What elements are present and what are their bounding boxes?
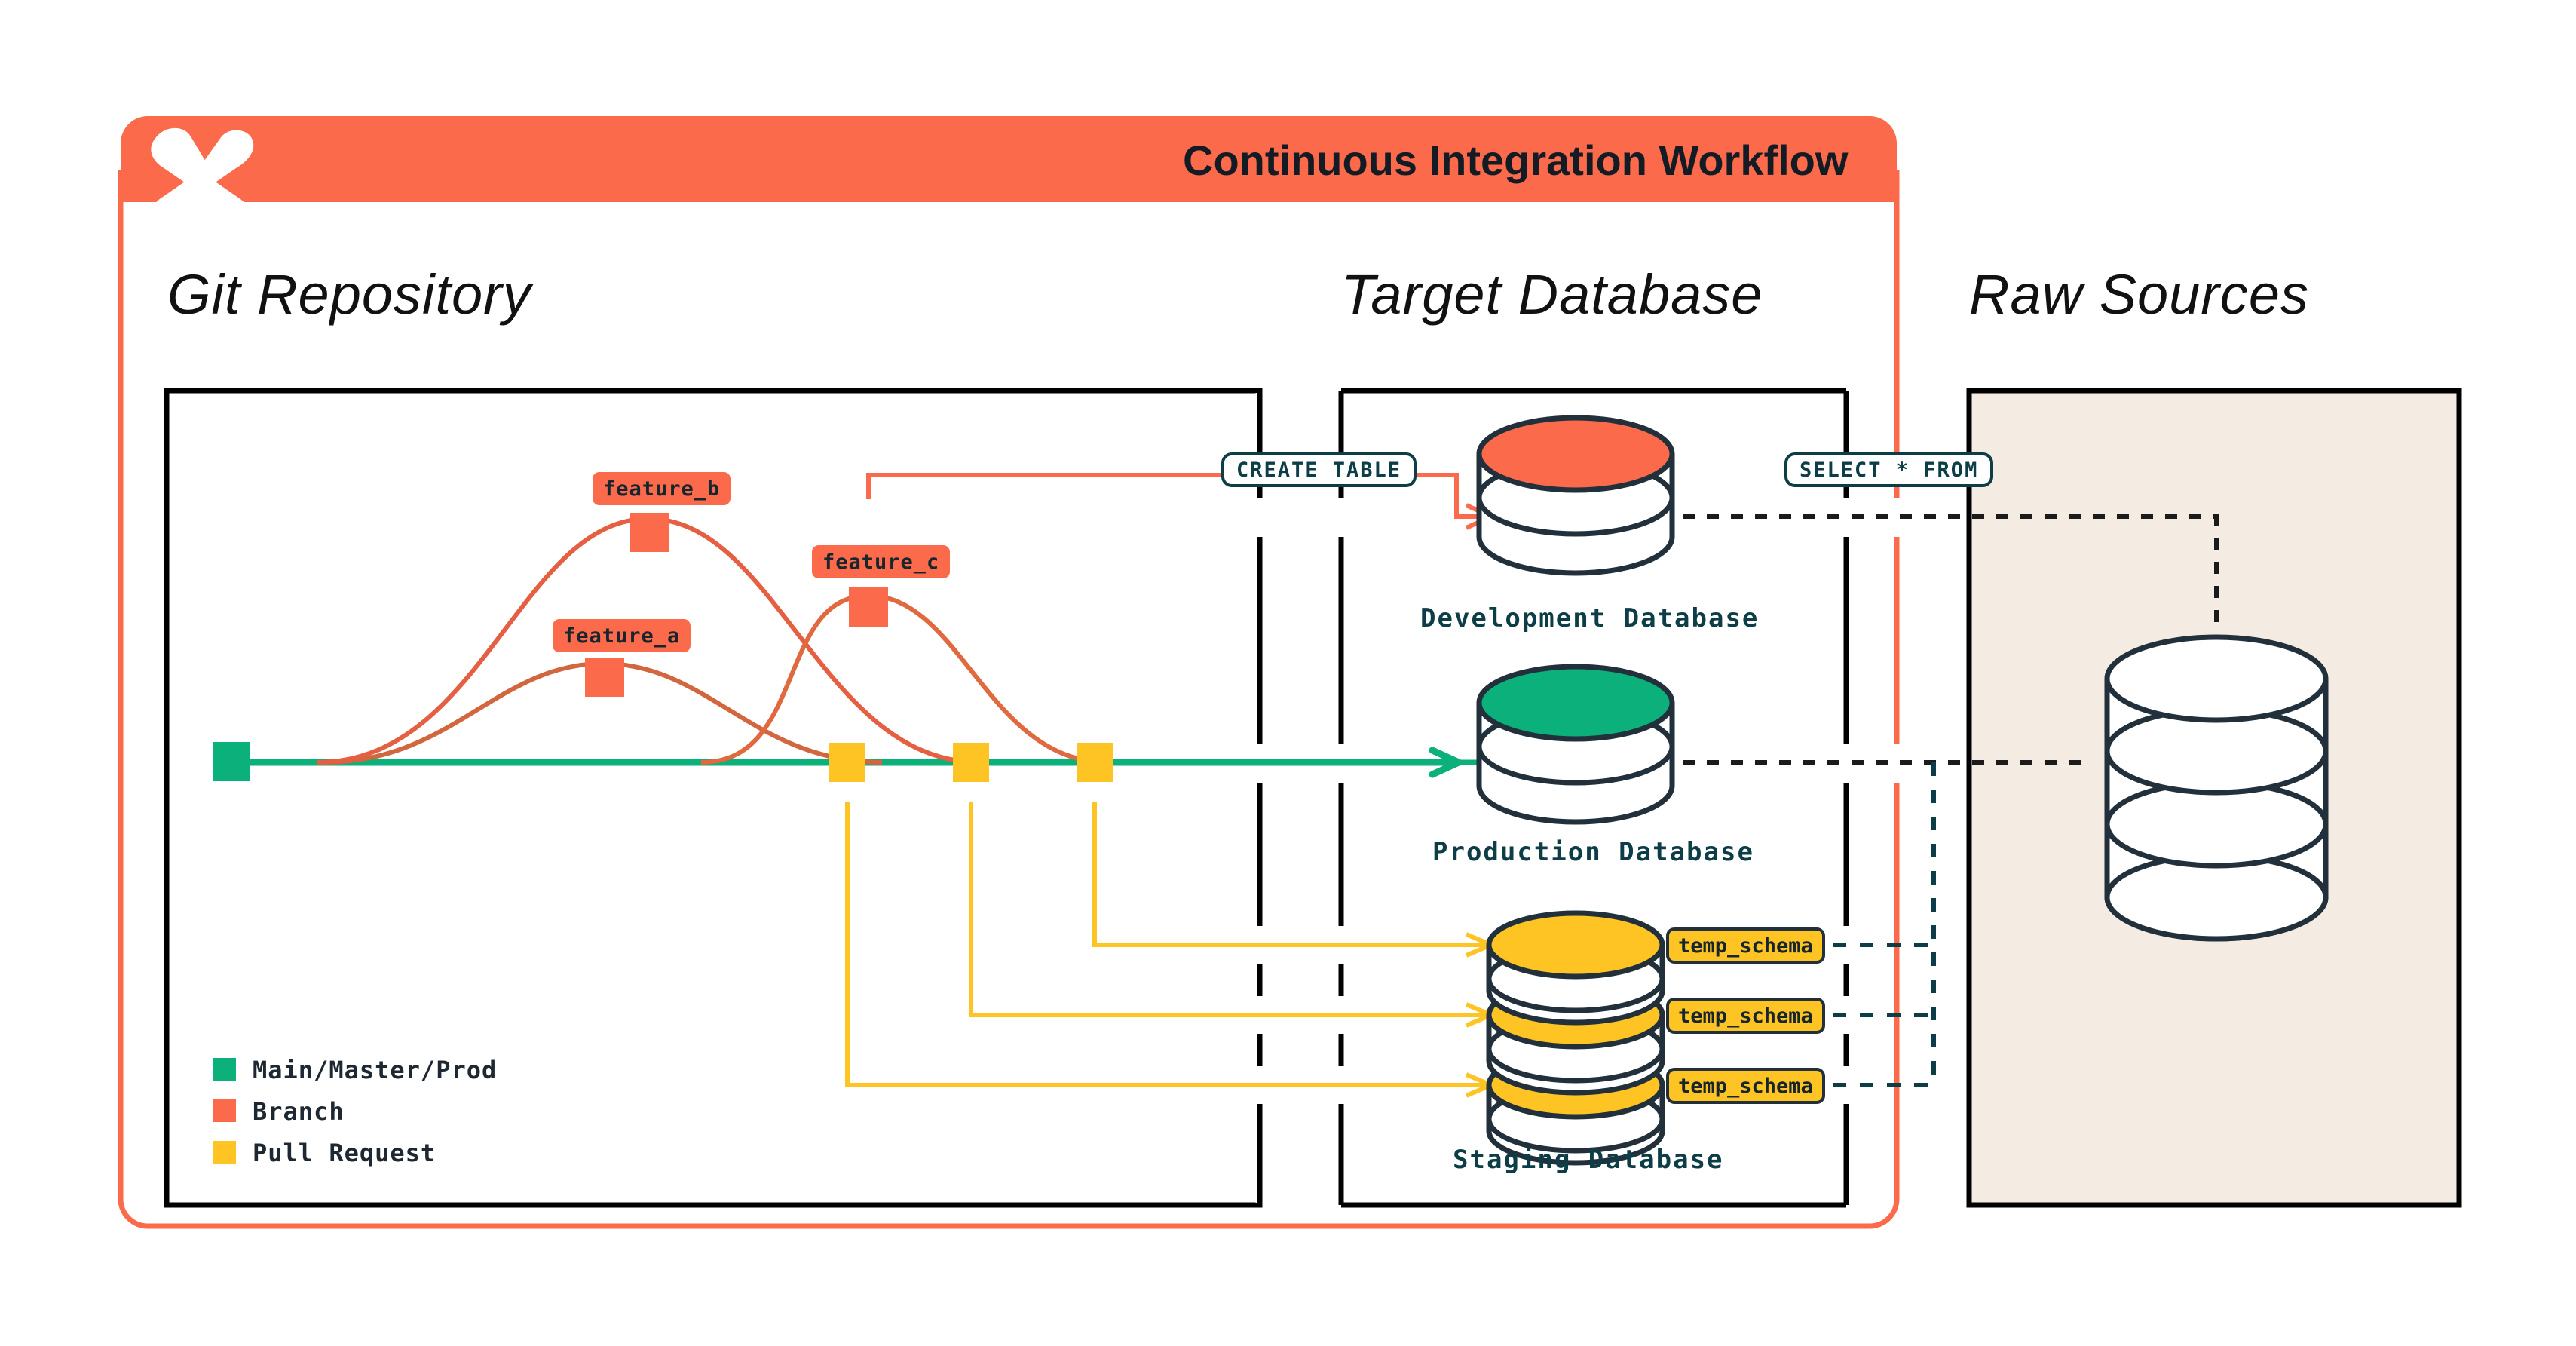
- db-caption-staging: Staging Database: [1453, 1145, 1724, 1175]
- section-title-raw: Raw Sources: [1969, 262, 2309, 327]
- db-caption-development: Development Database: [1420, 603, 1759, 633]
- production-database-cylinder: [1479, 667, 1672, 822]
- db-caption-production: Production Database: [1432, 837, 1754, 867]
- legend-label-main: Main/Master/Prod: [253, 1056, 497, 1084]
- schema-label-temp-schema[interactable]: temp_schema: [1666, 927, 1825, 964]
- legend-label-pull-request: Pull Request: [253, 1139, 436, 1167]
- diagram-canvas: Continuous Integration Workflow Git Repo…: [0, 0, 2576, 1346]
- git-node-pr: [1077, 743, 1113, 782]
- raw-sources-cylinder: [2107, 637, 2326, 939]
- branch-label-feature-a[interactable]: feature_a: [553, 619, 691, 652]
- git-node-main: [213, 742, 250, 781]
- git-node-branch: [585, 658, 624, 697]
- legend-label-branch: Branch: [253, 1097, 345, 1126]
- legend-swatch-branch: [213, 1099, 236, 1122]
- branch-label-feature-b[interactable]: feature_b: [593, 472, 731, 505]
- schema-label-temp-schema[interactable]: temp_schema: [1666, 1068, 1825, 1104]
- pr-route-3: [1095, 802, 1485, 945]
- pr-route-2: [971, 802, 1485, 1015]
- git-node-pr: [829, 743, 865, 782]
- legend-swatch-pr: [213, 1141, 236, 1164]
- sql-label-create-table[interactable]: CREATE TABLE: [1221, 452, 1417, 487]
- staging-database-cylinder: [1489, 913, 1662, 1163]
- legend-swatch-main: [213, 1058, 236, 1081]
- development-database-cylinder: [1479, 418, 1672, 573]
- sql-label-select-from[interactable]: SELECT * FROM: [1784, 452, 1993, 487]
- branch-label-feature-c[interactable]: feature_c: [812, 545, 950, 578]
- section-title-target: Target Database: [1341, 262, 1763, 327]
- schema-label-temp-schema[interactable]: temp_schema: [1666, 998, 1825, 1034]
- git-node-pr: [953, 743, 989, 782]
- git-node-branch: [630, 513, 669, 552]
- page-title: Continuous Integration Workflow: [1183, 136, 1848, 185]
- feature-c-curve: [701, 596, 1108, 762]
- section-title-git: Git Repository: [167, 262, 531, 327]
- git-node-branch: [849, 587, 888, 627]
